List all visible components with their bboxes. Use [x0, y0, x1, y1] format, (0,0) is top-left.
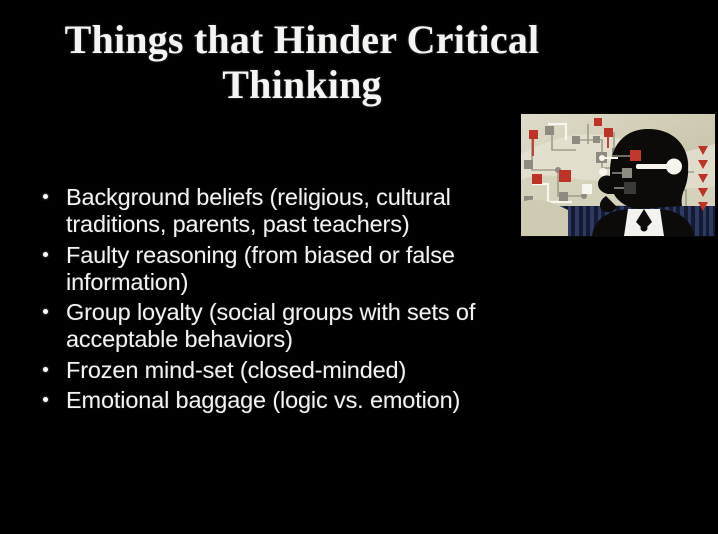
- bullet-item: Group loyalty (social groups with sets o…: [34, 299, 486, 354]
- bullet-dot-icon: [43, 309, 48, 314]
- bullet-dot-icon: [43, 252, 48, 257]
- bullet-item: Faulty reasoning (from biased or false i…: [34, 242, 486, 297]
- bullet-item-text: Group loyalty (social groups with sets o…: [66, 299, 475, 352]
- bullet-item-text: Emotional baggage (logic vs. emotion): [66, 387, 460, 413]
- title-line-2: Thinking: [12, 63, 592, 108]
- bullet-dot-icon: [43, 397, 48, 402]
- slide-title: Things that Hinder Critical Thinking: [12, 18, 592, 108]
- head-silhouette-circuit-board-illustration: [518, 110, 718, 240]
- bullet-item: Emotional baggage (logic vs. emotion): [34, 387, 486, 414]
- bullet-item: Background beliefs (religious, cultural …: [34, 184, 486, 239]
- bullet-list: Background beliefs (religious, cultural …: [34, 184, 486, 417]
- bullet-dot-icon: [43, 194, 48, 199]
- bullet-item-text: Background beliefs (religious, cultural …: [66, 184, 451, 237]
- bullet-item-text: Frozen mind-set (closed-minded): [66, 357, 406, 383]
- bullet-item: Frozen mind-set (closed-minded): [34, 357, 486, 384]
- bullet-dot-icon: [43, 367, 48, 372]
- title-line-1: Things that Hinder Critical: [12, 18, 592, 63]
- presentation-slide: Things that Hinder Critical Thinking Bac…: [0, 0, 718, 534]
- bullet-item-text: Faulty reasoning (from biased or false i…: [66, 242, 455, 295]
